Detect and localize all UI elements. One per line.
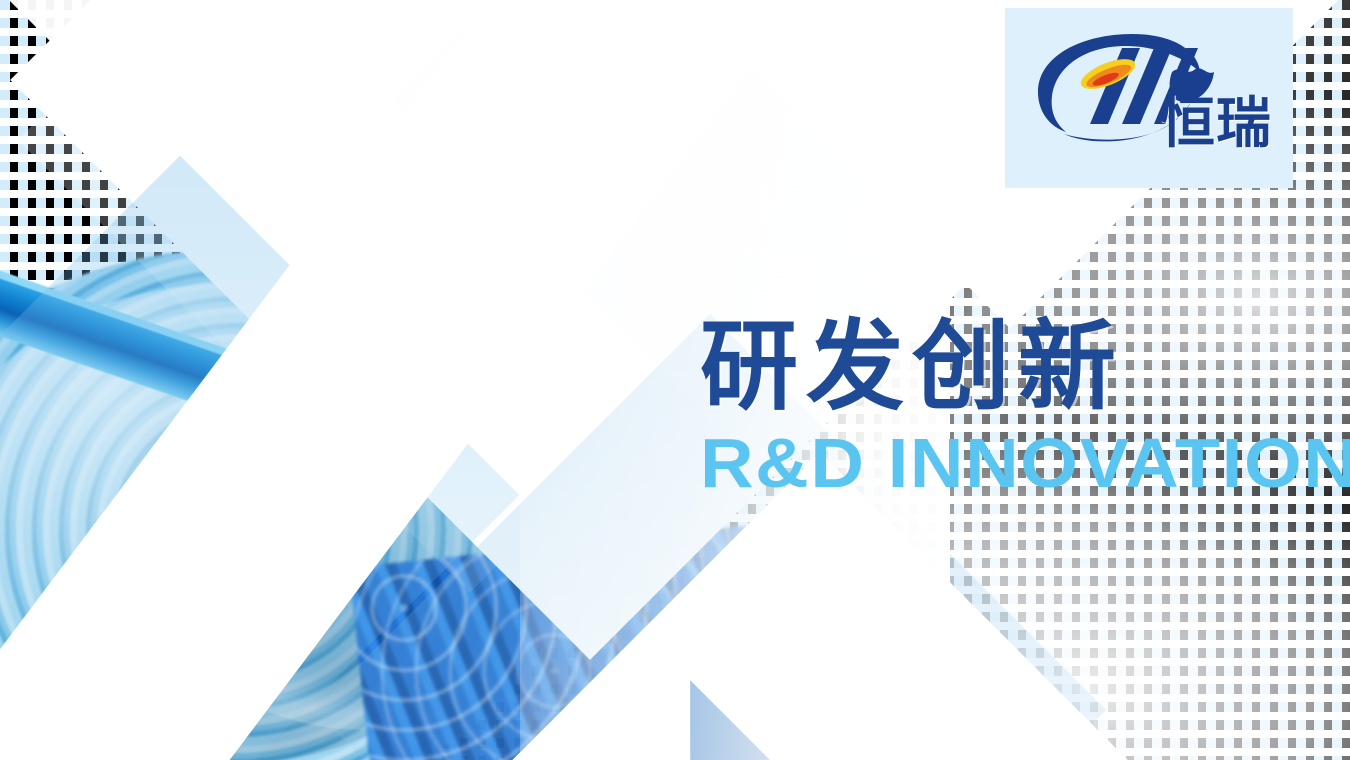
rd-innovation-banner: 恒瑞 研发创新 R&D INNOVATION <box>0 0 1350 760</box>
headline-block: 研发创新 R&D INNOVATION <box>700 316 1320 498</box>
page-title-cn: 研发创新 <box>700 316 1320 420</box>
page-subtitle-en: R&D INNOVATION <box>700 428 1350 498</box>
logo-wordmark-cn: 恒瑞 <box>1160 78 1272 158</box>
